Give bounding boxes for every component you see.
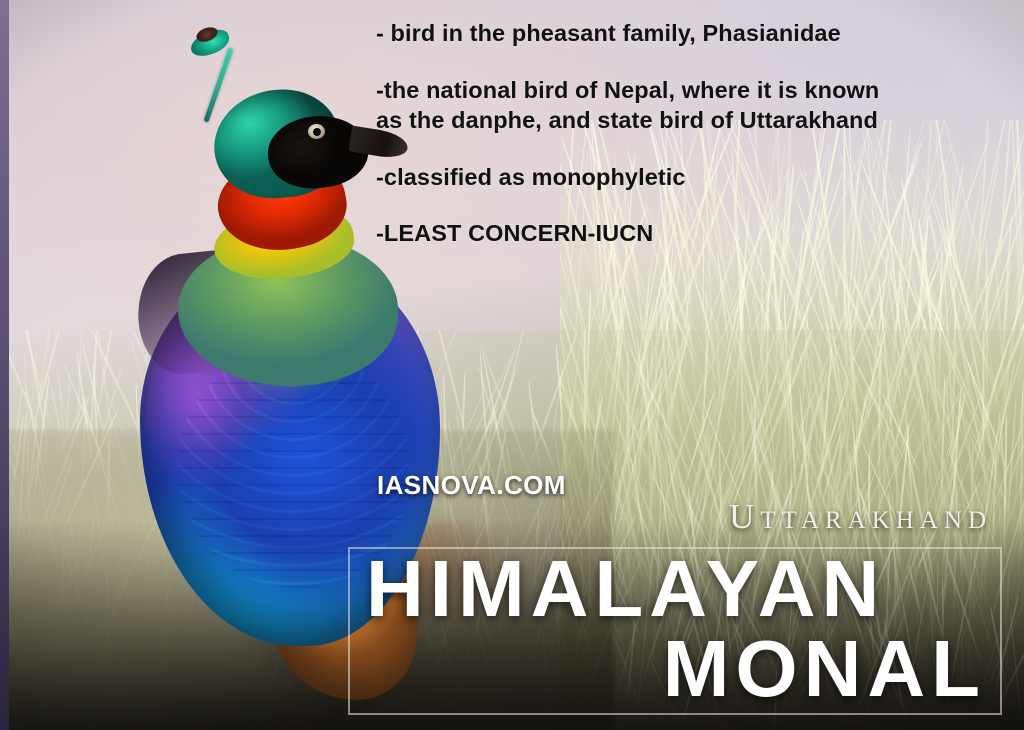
- fact-item-3: -classified as monophyletic: [376, 162, 906, 193]
- page-title: HIMALAYAN MONAL: [352, 552, 992, 705]
- fact-item-2: -the national bird of Nepal, where it is…: [376, 75, 906, 136]
- uttarakhand-wordmark: Uttarakhand: [729, 497, 992, 537]
- fact-item-4: -LEAST CONCERN-IUCN: [376, 218, 906, 249]
- fact-item-1: - bird in the pheasant family, Phasianid…: [376, 18, 906, 49]
- title-line-2: MONAL: [352, 632, 992, 706]
- infographic-image: - bird in the pheasant family, Phasianid…: [0, 0, 1024, 730]
- title-line-1: HIMALAYAN: [352, 552, 992, 626]
- right-edge-strip: [0, 0, 9, 730]
- site-watermark: IASNOVA.COM: [377, 470, 566, 501]
- fact-list: - bird in the pheasant family, Phasianid…: [376, 18, 956, 249]
